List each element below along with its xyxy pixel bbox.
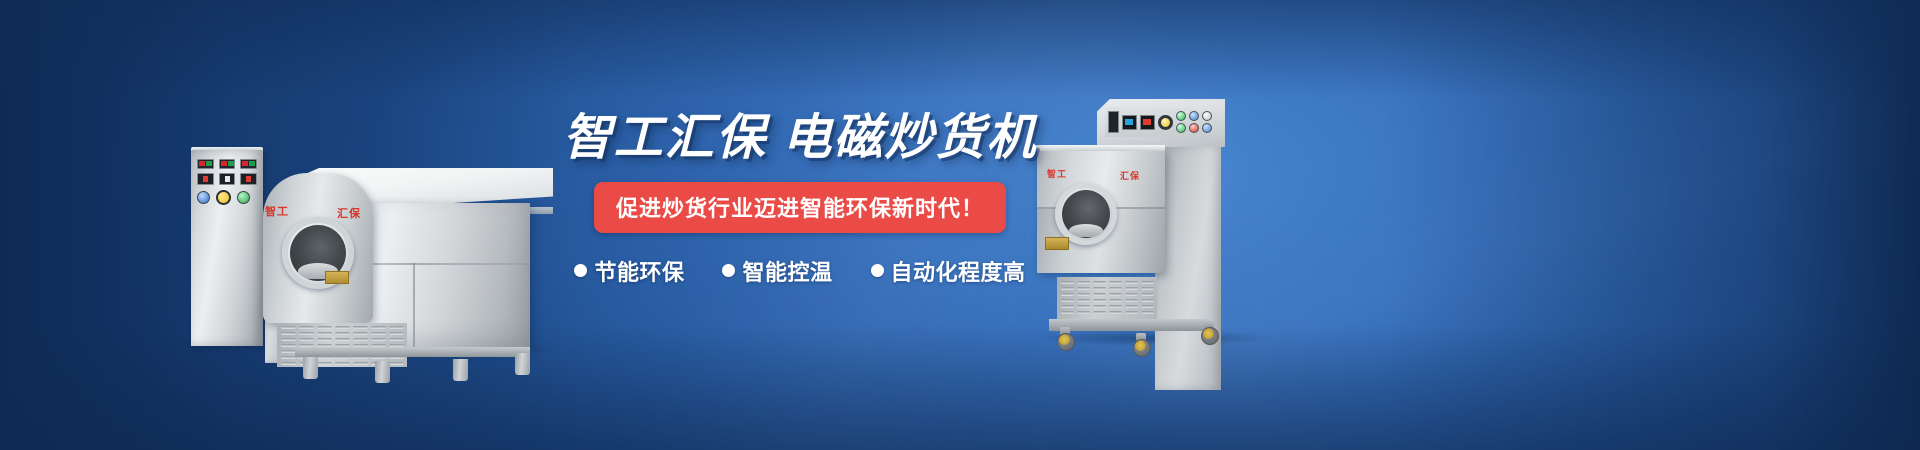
- louver-slat: [1093, 281, 1106, 284]
- left-machine-image: 许昌智工 智工 汇保: [185, 95, 565, 355]
- rocker-switch-3: [240, 173, 257, 185]
- blue-indicator-icon: [197, 191, 210, 204]
- feature-list: 节能环保 智能控温 自动化程度高: [560, 255, 1040, 287]
- left-button-row: [197, 190, 257, 205]
- louver-slat: [1125, 281, 1138, 284]
- feature-label-3: 自动化程度高: [891, 255, 1026, 287]
- louver-slat: [1061, 311, 1074, 314]
- louver-slat: [1077, 281, 1090, 284]
- louver-slat: [389, 338, 404, 341]
- louver-slat: [1109, 293, 1122, 296]
- louver-slat: [1077, 293, 1090, 296]
- louver-slat: [281, 356, 296, 359]
- louver-slat: [1141, 287, 1154, 290]
- caster-wheel-2: [1133, 333, 1149, 355]
- right-machine-base: [1049, 319, 1209, 331]
- louver-slat: [1125, 305, 1138, 308]
- indicator-light-cluster: [1176, 111, 1212, 133]
- louver-slat: [1093, 299, 1106, 302]
- caster-wheel-icon: [1133, 339, 1151, 357]
- louver-slat: [335, 332, 350, 335]
- temperature-display-1: [197, 159, 214, 169]
- louver-slat: [353, 362, 368, 365]
- temperature-display-3: [240, 159, 257, 169]
- louver-slat: [1141, 305, 1154, 308]
- louver-slat: [389, 326, 404, 329]
- left-machine-leg-2: [375, 361, 390, 383]
- louver-slat: [1077, 299, 1090, 302]
- left-display-row: [197, 159, 257, 169]
- emergency-stop-icon: [1158, 115, 1173, 130]
- blue-indicator-icon: [1189, 111, 1199, 121]
- louver-slat: [281, 326, 296, 329]
- louver-slat: [299, 332, 314, 335]
- louver-slat: [1141, 281, 1154, 284]
- caster-wheel-1: [1057, 327, 1073, 349]
- rocker-switch-2: [219, 173, 236, 185]
- louver-slat: [389, 362, 404, 365]
- right-vent-panel: [1057, 277, 1157, 319]
- temperature-display-2: [219, 159, 236, 169]
- louver-slat: [353, 332, 368, 335]
- louver-slat: [1061, 287, 1074, 290]
- left-machine-leg-4: [515, 353, 530, 375]
- banner-title: 智工汇保 电磁炒货机: [560, 112, 1040, 165]
- louver-slat: [1061, 299, 1074, 302]
- louver-slat: [1141, 311, 1154, 314]
- louver-slat: [335, 326, 350, 329]
- feature-item-2: 智能控温: [722, 255, 832, 287]
- louver-slat: [1109, 305, 1122, 308]
- caster-wheel-icon: [1057, 333, 1075, 351]
- louver-slat: [1093, 311, 1106, 314]
- louver-slat: [371, 326, 386, 329]
- slogan-badge: 促进炒货行业迈进智能环保新时代！: [594, 182, 1006, 233]
- left-nameplate: [325, 271, 349, 284]
- louver-slat: [317, 332, 332, 335]
- slogan-container: 促进炒货行业迈进智能环保新时代！: [560, 182, 1040, 233]
- louver-slat: [299, 326, 314, 329]
- product-banner: 许昌智工 智工 汇保: [0, 0, 1920, 450]
- feature-label-2: 智能控温: [742, 255, 832, 287]
- louver-slat: [1093, 287, 1106, 290]
- louver-slat: [281, 362, 296, 365]
- right-brand-mark-1: 智工: [1047, 167, 1067, 180]
- louver-slat: [1109, 281, 1122, 284]
- feature-item-3: 自动化程度高: [871, 255, 1026, 287]
- louver-slat: [299, 338, 314, 341]
- louver-slat: [1141, 299, 1154, 302]
- rocker-switch-1: [197, 173, 214, 185]
- louver-slat: [1077, 305, 1090, 308]
- feature-item-1: 节能环保: [574, 255, 684, 287]
- right-drum-opening: [1062, 190, 1110, 238]
- left-brand-mark-1: 智工: [265, 203, 289, 219]
- power-meter-icon: [1108, 111, 1119, 133]
- banner-copy: 智工汇保 电磁炒货机 促进炒货行业迈进智能环保新时代！ 节能环保 智能控温 自动…: [560, 112, 1040, 302]
- caster-wheel-3: [1201, 321, 1217, 343]
- louver-slat: [317, 338, 332, 341]
- louver-slat: [281, 344, 296, 347]
- temperature-display-2: [1140, 115, 1155, 130]
- blue-button-icon: [1202, 123, 1212, 133]
- green-button-icon: [1176, 123, 1186, 133]
- louver-slat: [1077, 311, 1090, 314]
- louver-slat: [371, 338, 386, 341]
- white-indicator-icon: [1202, 111, 1212, 121]
- louver-slat: [1109, 287, 1122, 290]
- right-brand-mark-2: 汇保: [1120, 169, 1140, 182]
- red-button-icon: [1189, 123, 1199, 133]
- emergency-stop-icon: [216, 190, 231, 205]
- right-control-panel: [1105, 107, 1220, 137]
- bullet-dot-icon: [871, 264, 884, 277]
- louver-slat: [1109, 299, 1122, 302]
- temperature-display-1: [1122, 115, 1137, 130]
- feature-label-1: 节能环保: [594, 255, 684, 287]
- left-switch-row: [197, 173, 257, 185]
- left-body-door-split: [413, 263, 415, 350]
- louver-slat: [317, 362, 332, 365]
- louver-slat: [1061, 293, 1074, 296]
- left-machine-skirt: [295, 347, 530, 357]
- left-machine-leg-3: [453, 359, 468, 381]
- louver-slat: [353, 326, 368, 329]
- louver-slat: [281, 332, 296, 335]
- louver-slat: [281, 338, 296, 341]
- right-machine-image: 智工 汇保: [1035, 85, 1285, 370]
- caster-wheel-icon: [1201, 327, 1219, 345]
- louver-slat: [1093, 293, 1106, 296]
- louver-slat: [1125, 299, 1138, 302]
- louver-slat: [281, 350, 296, 353]
- louver-slat: [1125, 293, 1138, 296]
- louver-slat: [335, 362, 350, 365]
- bullet-dot-icon: [722, 264, 735, 277]
- green-start-icon: [237, 191, 250, 204]
- indicator-row-top: [1176, 111, 1212, 121]
- louver-slat: [1125, 311, 1138, 314]
- louver-slat: [371, 332, 386, 335]
- left-brand-mark-2: 汇保: [337, 205, 361, 221]
- right-nameplate: [1045, 237, 1069, 250]
- louver-slat: [1109, 311, 1122, 314]
- louver-slat: [353, 338, 368, 341]
- louver-slat: [389, 332, 404, 335]
- indicator-row-bottom: [1176, 123, 1212, 133]
- louver-slat: [317, 326, 332, 329]
- louver-slat: [335, 338, 350, 341]
- louver-slat: [1093, 305, 1106, 308]
- louver-slat: [1141, 293, 1154, 296]
- left-machine-leg-1: [303, 357, 318, 379]
- bullet-dot-icon: [574, 264, 587, 277]
- left-control-panel: [197, 159, 257, 213]
- louver-slat: [1125, 287, 1138, 290]
- louver-slat: [1061, 305, 1074, 308]
- green-indicator-icon: [1176, 111, 1186, 121]
- louver-slat: [1077, 287, 1090, 290]
- louver-slat: [1061, 281, 1074, 284]
